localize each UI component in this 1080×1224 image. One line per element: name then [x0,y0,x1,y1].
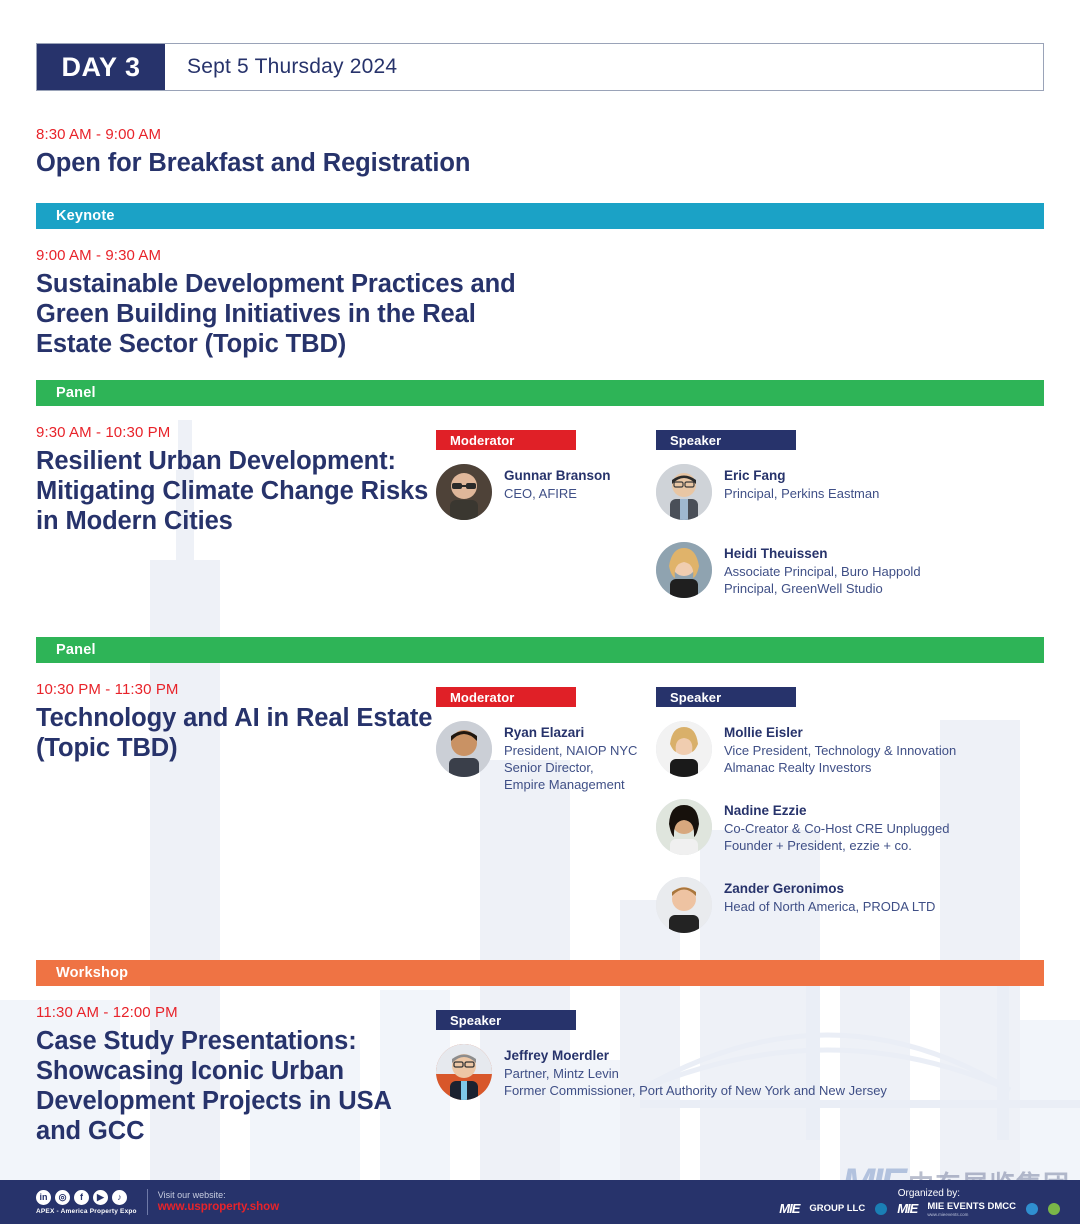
person-title: Head of North America, PRODA LTD [724,898,935,915]
day-header: DAY 3 Sept 5 Thursday 2024 [36,43,1044,91]
person-entry: Gunnar Branson CEO, AFIRE [436,464,656,520]
session-panel-technology-ai: Panel 10:30 PM - 11:30 PM Technology and… [36,637,1044,933]
website-prompt: Visit our website: [158,1190,279,1200]
header-date: Sept 5 Thursday 2024 [165,44,397,90]
avatar [656,464,712,520]
category-banner-keynote: Keynote [36,203,1044,229]
person-title: President, NAIOP NYC Senior Director, Em… [504,742,637,793]
person-title: Principal, Perkins Eastman [724,485,879,502]
mie-events-name: MIE EVENTS DMCC www.mieevents.com [927,1201,1016,1217]
person-name: Nadine Ezzie [724,803,949,820]
instagram-icon[interactable]: ◎ [55,1190,70,1205]
session-panel-resilient-urban: Panel 9:30 AM - 10:30 PM Resilient Urban… [36,380,1044,598]
role-badge-speaker: Speaker [436,1010,576,1030]
person-name: Eric Fang [724,468,879,485]
avatar [436,464,492,520]
mie-group-name: GROUP LLC [809,1203,865,1214]
person-entry: Zander Geronimos Head of North America, … [656,877,1036,933]
category-banner-workshop: Workshop [36,960,1044,986]
website-url[interactable]: www.usproperty.show [158,1201,279,1214]
mie-events-logo-icon: MIE [897,1201,917,1216]
person-entry: Mollie Eisler Vice President, Technology… [656,721,1036,777]
session-time: 10:30 PM - 11:30 PM [36,681,436,698]
avatar [656,799,712,855]
certification-badge-one-icon [1026,1203,1038,1215]
mie-group-logo-icon: MIE [779,1201,799,1216]
person-name: Ryan Elazari [504,725,637,742]
mie-events-url: www.mieevents.com [927,1212,1016,1217]
session-time: 11:30 AM - 12:00 PM [36,1004,436,1021]
person-title: Co-Creator & Co-Host CRE Unplugged Found… [724,820,949,854]
organized-by-label: Organized by: [898,1188,960,1199]
social-stack: in ◎ f ▶ ♪ APEX - America Property Expo [36,1190,137,1215]
category-banner-panel: Panel [36,380,1044,406]
avatar [656,877,712,933]
session-title: Resilient Urban Development: Mitigating … [36,446,436,536]
role-badge-speaker: Speaker [656,430,796,450]
session-keynote: Keynote 9:00 AM - 9:30 AM Sustainable De… [36,203,1044,359]
session-title: Open for Breakfast and Registration [36,148,556,178]
person-entry: Eric Fang Principal, Perkins Eastman [656,464,1036,520]
tiktok-icon[interactable]: ♪ [112,1190,127,1205]
agenda-page: DAY 3 Sept 5 Thursday 2024 8:30 AM - 9:0… [0,0,1080,1224]
role-badge-moderator: Moderator [436,430,576,450]
footer-bar: in ◎ f ▶ ♪ APEX - America Property Expo … [0,1180,1080,1224]
person-entry: Ryan Elazari President, NAIOP NYC Senior… [436,721,656,793]
session-breakfast: 8:30 AM - 9:00 AM Open for Breakfast and… [36,126,1044,178]
mie-events-name-text: MIE EVENTS DMCC [927,1201,1016,1212]
footer-right: Organized by: MIE GROUP LLC MIE MIE EVEN… [779,1188,1080,1217]
certification-badge-two-icon [1048,1203,1060,1215]
person-entry: Jeffrey Moerdler Partner, Mintz Levin Fo… [436,1044,1036,1100]
organizer-logos: MIE GROUP LLC MIE MIE EVENTS DMCC www.mi… [779,1201,1060,1217]
avatar [656,542,712,598]
person-title: Partner, Mintz Levin Former Commissioner… [504,1065,887,1099]
session-title: Sustainable Development Practices and Gr… [36,269,556,359]
session-title: Technology and AI in Real Estate (Topic … [36,703,436,763]
person-name: Mollie Eisler [724,725,956,742]
person-name: Zander Geronimos [724,881,935,898]
person-title: Vice President, Technology & Innovation … [724,742,956,776]
footer-divider [147,1189,148,1215]
person-title: Associate Principal, Buro Happold Princi… [724,563,921,597]
session-workshop-case-study: Workshop 11:30 AM - 12:00 PM Case Study … [36,960,1044,1146]
role-badge-speaker: Speaker [656,687,796,707]
apex-brand-label: APEX - America Property Expo [36,1208,137,1215]
person-title: CEO, AFIRE [504,485,611,502]
social-icons: in ◎ f ▶ ♪ [36,1190,127,1205]
session-time: 9:00 AM - 9:30 AM [36,247,1044,264]
person-entry: Nadine Ezzie Co-Creator & Co-Host CRE Un… [656,799,1036,855]
role-badge-moderator: Moderator [436,687,576,707]
youtube-icon[interactable]: ▶ [93,1190,108,1205]
person-name: Heidi Theuissen [724,546,921,563]
avatar [656,721,712,777]
session-time: 9:30 AM - 10:30 PM [36,424,436,441]
avatar [436,721,492,777]
session-time: 8:30 AM - 9:00 AM [36,126,1044,143]
footer-website: Visit our website: www.usproperty.show [158,1190,279,1214]
iaee-badge-icon [875,1203,887,1215]
footer-left: in ◎ f ▶ ♪ APEX - America Property Expo … [0,1189,279,1215]
person-entry: Heidi Theuissen Associate Principal, Bur… [656,542,1036,598]
avatar [436,1044,492,1100]
session-title: Case Study Presentations: Showcasing Ico… [36,1026,436,1146]
person-name: Jeffrey Moerdler [504,1048,887,1065]
day-badge: DAY 3 [37,44,165,90]
category-banner-panel: Panel [36,637,1044,663]
facebook-icon[interactable]: f [74,1190,89,1205]
linkedin-icon[interactable]: in [36,1190,51,1205]
person-name: Gunnar Branson [504,468,611,485]
